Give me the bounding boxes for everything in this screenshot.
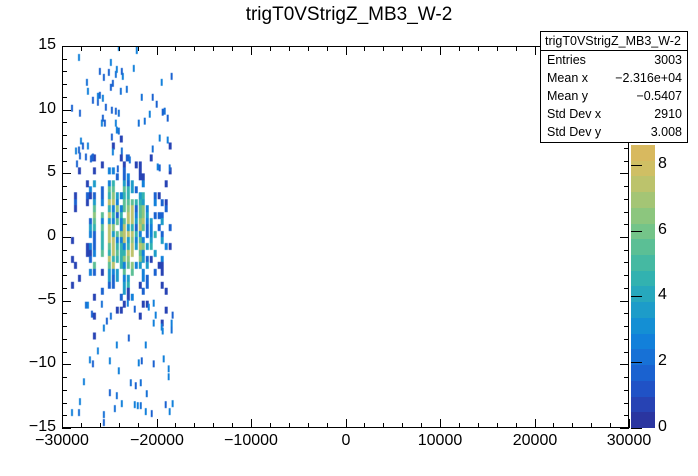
palette-swatch <box>631 334 655 350</box>
y-axis-minor-tick <box>62 135 67 136</box>
y-axis-tick-label: −5 <box>10 291 56 309</box>
palette-swatch <box>631 381 655 397</box>
statistics-box[interactable]: trigT0VStrigZ_MB3_W-2 Entries3003Mean x−… <box>540 31 688 143</box>
y-axis-minor-tick-right <box>624 339 629 340</box>
x-axis-minor-tick <box>232 423 233 428</box>
palette-swatch <box>631 176 655 192</box>
stats-row-value: 2910 <box>654 105 682 123</box>
x-axis-minor-tick-top <box>421 46 422 51</box>
x-axis-minor-tick-top <box>308 46 309 51</box>
stats-row-label: Mean x <box>547 69 588 87</box>
y-axis-tick <box>62 110 71 111</box>
y-axis-minor-tick <box>62 148 67 149</box>
stats-row: Std Dev x2910 <box>541 105 687 123</box>
x-axis-minor-tick-top <box>138 46 139 51</box>
x-axis-minor-tick <box>308 423 309 428</box>
x-axis-tick <box>251 419 252 428</box>
palette-tick <box>631 165 642 166</box>
palette-tick-label: 4 <box>658 286 667 304</box>
color-palette-bar <box>631 145 655 428</box>
y-axis-tick-right <box>620 428 629 429</box>
palette-tick <box>631 231 642 232</box>
x-axis-minor-tick <box>591 423 592 428</box>
y-axis-minor-tick-right <box>624 148 629 149</box>
x-axis-tick-top <box>440 46 441 55</box>
stats-row-value: −0.5407 <box>636 87 682 105</box>
y-axis-minor-tick <box>62 326 67 327</box>
stats-row-label: Entries <box>547 51 586 69</box>
y-axis-tick-label: 15 <box>10 36 56 54</box>
x-axis-tick-top <box>157 46 158 55</box>
y-axis-minor-tick <box>62 288 67 289</box>
palette-swatch <box>631 239 655 255</box>
x-axis-minor-tick-top <box>213 46 214 51</box>
y-axis-tick <box>62 46 71 47</box>
palette-tick <box>631 428 642 429</box>
y-axis-minor-tick <box>62 352 67 353</box>
x-axis-minor-tick-top <box>232 46 233 51</box>
y-axis-minor-tick <box>62 224 67 225</box>
x-axis-minor-tick-top <box>119 46 120 51</box>
x-axis-minor-tick <box>194 423 195 428</box>
y-axis-tick <box>62 301 71 302</box>
y-axis-tick <box>62 364 71 365</box>
y-axis-tick-label: −10 <box>10 354 56 372</box>
y-axis-minor-tick <box>62 71 67 72</box>
palette-swatch <box>631 161 655 177</box>
x-axis-minor-tick <box>572 423 573 428</box>
palette-tick <box>631 296 642 297</box>
y-axis-minor-tick-right <box>624 224 629 225</box>
x-axis-tick-top <box>251 46 252 55</box>
y-axis-tick-right <box>620 364 629 365</box>
y-axis-minor-tick <box>62 97 67 98</box>
y-axis-minor-tick-right <box>624 275 629 276</box>
palette-swatch <box>631 318 655 334</box>
x-axis-minor-tick-top <box>175 46 176 51</box>
x-axis-tick-label: 30000 <box>569 432 689 450</box>
x-axis-minor-tick-top <box>81 46 82 51</box>
x-axis-minor-tick <box>478 423 479 428</box>
y-axis-minor-tick <box>62 415 67 416</box>
palette-tick-label: 2 <box>658 352 667 370</box>
y-axis-tick-label: 0 <box>10 227 56 245</box>
y-axis-minor-tick-right <box>624 186 629 187</box>
x-axis-minor-tick-top <box>289 46 290 51</box>
x-axis-minor-tick <box>327 423 328 428</box>
stats-row-value: 3.008 <box>651 123 682 141</box>
y-axis-tick-label: 10 <box>10 100 56 118</box>
x-axis-tick <box>346 419 347 428</box>
y-axis-minor-tick-right <box>624 250 629 251</box>
palette-swatch <box>631 302 655 318</box>
x-axis-minor-tick <box>497 423 498 428</box>
palette-tick-label: 0 <box>658 418 667 436</box>
stats-row: Std Dev y3.008 <box>541 123 687 141</box>
palette-tick-label: 8 <box>658 155 667 173</box>
y-axis-minor-tick <box>62 199 67 200</box>
y-axis-minor-tick <box>62 390 67 391</box>
x-axis-minor-tick-top <box>100 46 101 51</box>
stats-row-label: Std Dev x <box>547 105 601 123</box>
x-axis-minor-tick-top <box>270 46 271 51</box>
y-axis-minor-tick <box>62 377 67 378</box>
y-axis-minor-tick-right <box>624 212 629 213</box>
x-axis-minor-tick <box>364 423 365 428</box>
x-axis-minor-tick <box>270 423 271 428</box>
x-axis-minor-tick-top <box>383 46 384 51</box>
x-axis-minor-tick <box>421 423 422 428</box>
y-axis-minor-tick-right <box>624 313 629 314</box>
palette-swatch <box>631 271 655 287</box>
palette-swatch <box>631 192 655 208</box>
y-axis-minor-tick-right <box>624 288 629 289</box>
y-axis-minor-tick <box>62 250 67 251</box>
palette-swatch <box>631 145 655 161</box>
x-axis-tick <box>629 419 630 428</box>
y-axis-tick <box>62 428 71 429</box>
x-axis-minor-tick <box>138 423 139 428</box>
x-axis-minor-tick <box>213 423 214 428</box>
stats-row-value: −2.316e+04 <box>615 69 682 87</box>
page-title: trigT0VStrigZ_MB3_W-2 <box>0 4 698 26</box>
y-axis-minor-tick-right <box>624 161 629 162</box>
y-axis-tick-right <box>620 173 629 174</box>
palette-swatch <box>631 255 655 271</box>
y-axis-minor-tick-right <box>624 377 629 378</box>
y-axis-minor-tick-right <box>624 403 629 404</box>
y-axis-minor-tick <box>62 313 67 314</box>
palette-swatch <box>631 412 655 428</box>
stats-row: Mean x−2.316e+04 <box>541 69 687 87</box>
y-axis-minor-tick <box>62 275 67 276</box>
x-axis-minor-tick-top <box>327 46 328 51</box>
x-axis-minor-tick-top <box>402 46 403 51</box>
stats-row: Mean y−0.5407 <box>541 87 687 105</box>
x-axis-minor-tick-top <box>194 46 195 51</box>
x-axis-minor-tick-top <box>364 46 365 51</box>
y-axis-minor-tick <box>62 186 67 187</box>
x-axis-tick-top <box>62 46 63 55</box>
y-axis-minor-tick-right <box>624 415 629 416</box>
stats-rows: Entries3003Mean x−2.316e+04Mean y−0.5407… <box>541 51 687 141</box>
y-axis-minor-tick <box>62 403 67 404</box>
y-axis-minor-tick-right <box>624 262 629 263</box>
y-axis-minor-tick <box>62 122 67 123</box>
stats-row-label: Mean y <box>547 87 588 105</box>
x-axis-minor-tick <box>516 423 517 428</box>
y-axis-minor-tick-right <box>624 352 629 353</box>
x-axis-minor-tick <box>553 423 554 428</box>
x-axis-minor-tick-top <box>459 46 460 51</box>
x-axis-minor-tick-top <box>497 46 498 51</box>
y-axis-minor-tick-right <box>624 390 629 391</box>
x-axis-tick-top <box>346 46 347 55</box>
x-axis-minor-tick <box>610 423 611 428</box>
y-axis-minor-tick <box>62 84 67 85</box>
y-axis-tick-right <box>620 237 629 238</box>
x-axis-minor-tick <box>459 423 460 428</box>
y-axis-minor-tick <box>62 339 67 340</box>
palette-swatch <box>631 365 655 381</box>
y-axis-tick-right <box>620 301 629 302</box>
y-axis-tick <box>62 237 71 238</box>
y-axis-minor-tick <box>62 161 67 162</box>
stats-histogram-name: trigT0VStrigZ_MB3_W-2 <box>541 32 687 51</box>
x-axis-minor-tick <box>119 423 120 428</box>
root-canvas: trigT0VStrigZ_MB3_W-2 −30000−20000−10000… <box>0 0 698 476</box>
x-axis-tick-top <box>535 46 536 55</box>
x-axis-minor-tick <box>175 423 176 428</box>
y-axis-tick-label: 5 <box>10 163 56 181</box>
stats-row-value: 3003 <box>654 51 682 69</box>
palette-swatch <box>631 208 655 224</box>
x-axis-minor-tick-top <box>516 46 517 51</box>
y-axis-minor-tick <box>62 262 67 263</box>
y-axis-minor-tick <box>62 59 67 60</box>
x-axis-tick <box>62 419 63 428</box>
x-axis-tick <box>440 419 441 428</box>
palette-tick-label: 6 <box>658 221 667 239</box>
x-axis-minor-tick <box>289 423 290 428</box>
y-axis-minor-tick-right <box>624 326 629 327</box>
palette-swatch <box>631 286 655 302</box>
palette-tick <box>631 362 642 363</box>
palette-swatch <box>631 397 655 413</box>
y-axis-minor-tick <box>62 212 67 213</box>
x-axis-minor-tick <box>402 423 403 428</box>
x-axis-tick <box>157 419 158 428</box>
x-axis-minor-tick <box>81 423 82 428</box>
x-axis-minor-tick <box>100 423 101 428</box>
x-axis-tick <box>535 419 536 428</box>
y-axis-tick-label: −15 <box>10 418 56 436</box>
stats-row: Entries3003 <box>541 51 687 69</box>
y-axis-tick <box>62 173 71 174</box>
y-axis-minor-tick-right <box>624 199 629 200</box>
x-axis-minor-tick-top <box>478 46 479 51</box>
x-axis-minor-tick <box>383 423 384 428</box>
stats-row-label: Std Dev y <box>547 123 601 141</box>
